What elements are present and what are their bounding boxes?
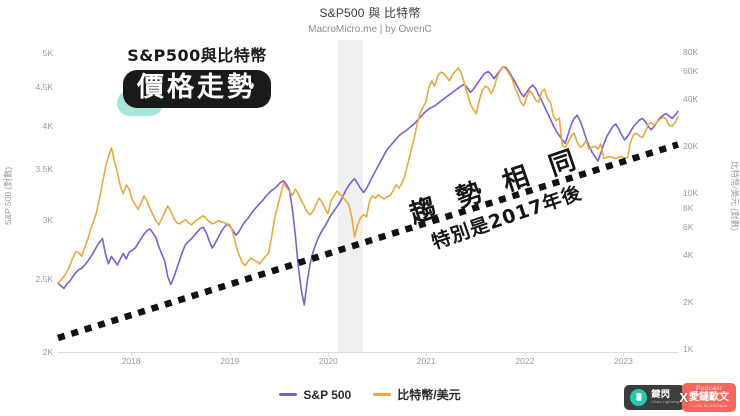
y-axis-right-tick: 40K [683,94,698,104]
y-axis-right-tick: 20K [683,141,698,151]
legend-item[interactable]: 比特幣/美元 [373,386,460,403]
annotation-headline: S&P500與比特幣 [92,42,302,66]
y-axis-right-tick: 4K [683,250,693,260]
y-axis-left-tick: 3K [43,215,53,225]
chart-source-credit: MacroMicro.me | by OwenC [0,24,740,35]
logo-chain-lightning[interactable]: 鍵閃 Chain Lightning [624,385,685,410]
x-axis-tick: 2022 [515,356,534,366]
logo-left-title: 鍵閃 [651,390,679,399]
y-axis-left-tick: 3.5K [36,164,54,174]
legend-swatch [373,393,391,396]
legend-swatch [279,393,297,396]
y-axis-left-tick: 4.5K [36,82,54,92]
logo-left-subtitle: Chain Lightning [651,401,679,405]
y-axis-left-label: S&P 500 (對數) [2,167,14,225]
legend-label: S&P 500 [303,388,351,402]
y-axis-left-tick: 4K [43,121,53,131]
y-axis-left-tick: 2.5K [36,274,54,284]
y-axis-right-tick: 8K [683,203,693,213]
annotation-headline-block: S&P500與比特幣 價格走勢 [92,42,302,108]
y-axis-right-tick: 2K [683,297,693,307]
logo-x-separator: X [679,390,688,405]
logo-podcast-owen[interactable]: Podcast 愛鏈歐文 I LOVE BLOCKCHAIN [682,383,736,412]
x-axis-tick: 2018 [122,356,141,366]
logo-right-title: 愛鏈歐文 [689,393,729,403]
x-axis-tick: 2021 [417,356,436,366]
x-axis-tick: 2019 [220,356,239,366]
logo-right-subtitle: I LOVE BLOCKCHAIN [691,405,728,408]
x-axis-tick: 2023 [614,356,633,366]
y-axis-right-tick: 1K [683,344,693,354]
legend-label: 比特幣/美元 [397,386,460,403]
y-axis-left-tick: 5K [43,48,53,58]
legend-item[interactable]: S&P 500 [279,388,351,402]
annotation-badge-wrap: 價格走勢 [123,70,271,108]
annotation-badge: 價格走勢 [123,70,271,108]
y-axis-right-tick: 6K [683,222,693,232]
page-title: S&P500 與 比特幣 [0,4,740,21]
y-axis-right-tick: 60K [683,66,698,76]
chart-header: S&P500 與 比特幣 MacroMicro.me | by OwenC [0,4,740,35]
y-axis-right-tick: 80K [683,47,698,57]
y-axis-right-tick: 10K [683,188,698,198]
y-axis-left-tick: 2K [43,347,53,357]
chart-page: S&P500 與 比特幣 MacroMicro.me | by OwenC 2K… [0,0,740,416]
microphone-icon [630,389,647,406]
x-axis-tick: 2020 [319,356,338,366]
y-axis-right-label: 比特幣/美元 (對數) [729,161,740,231]
x-axis-line [58,352,678,353]
branding-logos: 鍵閃 Chain Lightning X Podcast 愛鏈歐文 I LOVE… [624,383,736,412]
